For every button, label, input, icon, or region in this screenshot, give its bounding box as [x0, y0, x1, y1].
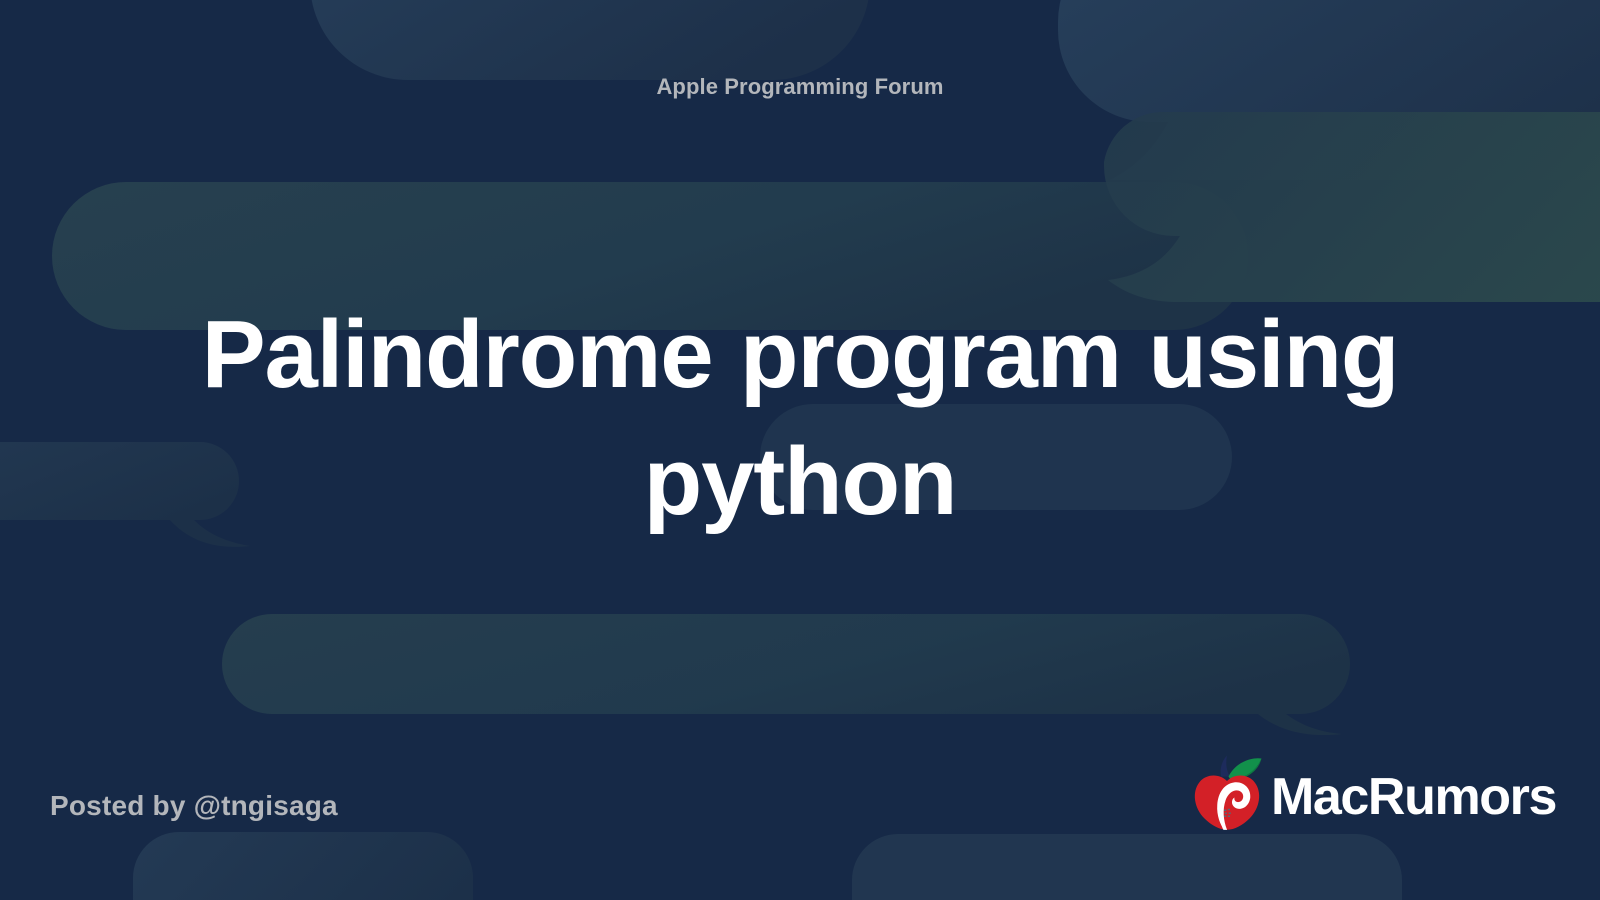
post-byline: Posted by @tngisaga: [50, 790, 338, 822]
macrumors-wordmark: MacRumors: [1271, 771, 1556, 823]
macrumors-apple-icon: [1189, 754, 1265, 832]
share-card: Apple Programming Forum Palindrome progr…: [0, 0, 1600, 900]
post-title-container: Palindrome program using python: [0, 292, 1600, 545]
macrumors-logo[interactable]: MacRumors: [1189, 754, 1556, 832]
page-title: Palindrome program using python: [110, 292, 1490, 545]
forum-label: Apple Programming Forum: [0, 74, 1600, 100]
